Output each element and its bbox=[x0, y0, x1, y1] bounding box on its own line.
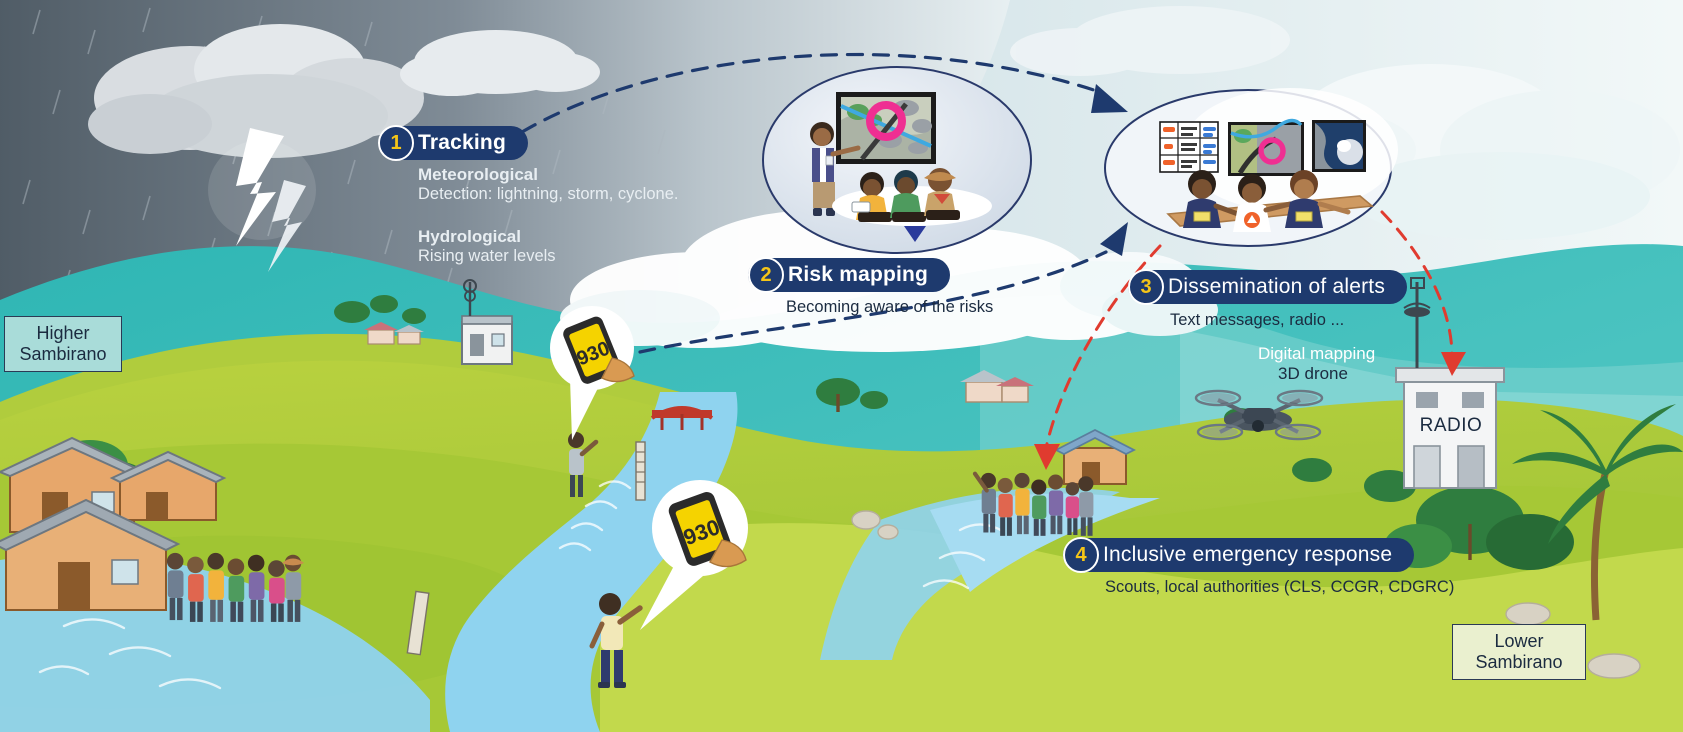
step-2-caption: Becoming aware of the risks bbox=[786, 297, 993, 319]
location-label-lower-sambirano: Lower Sambirano bbox=[1452, 624, 1586, 680]
step-3-extra-3d-drone: 3D drone bbox=[1258, 363, 1368, 385]
step-4-caption: Scouts, local authorities (CLS, CCGR, CD… bbox=[1105, 577, 1454, 599]
location-label-higher-sambirano: Higher Sambirano bbox=[4, 316, 122, 372]
infographic-canvas: 930 930 bbox=[0, 0, 1683, 732]
step-3-label: Dissemination of alerts bbox=[1128, 270, 1407, 304]
bubble-risk-mapping bbox=[763, 67, 1031, 253]
step-3-dissemination[interactable]: Dissemination of alerts 3 bbox=[1128, 270, 1407, 304]
step-1-tracking[interactable]: Tracking 1 bbox=[378, 126, 528, 160]
step-4-number: 4 bbox=[1063, 537, 1099, 573]
step-3-caption: Text messages, radio ... bbox=[1170, 310, 1344, 332]
landscape-illustration: 930 930 bbox=[0, 0, 1683, 732]
radio-building-label: RADIO bbox=[1412, 415, 1490, 437]
step-1-number: 1 bbox=[378, 125, 414, 161]
step-4-label: Inclusive emergency response bbox=[1063, 538, 1414, 572]
step-1-text-meteorological: Detection: lightning, storm, cyclone. bbox=[418, 184, 678, 206]
step-2-risk-mapping[interactable]: Risk mapping 2 bbox=[748, 258, 950, 292]
step-3-number: 3 bbox=[1128, 269, 1164, 305]
step-4-emergency-response[interactable]: Inclusive emergency response 4 bbox=[1063, 538, 1414, 572]
step-1-text-hydrological: Rising water levels bbox=[418, 246, 556, 268]
step-2-number: 2 bbox=[748, 257, 784, 293]
bridge bbox=[652, 408, 712, 430]
